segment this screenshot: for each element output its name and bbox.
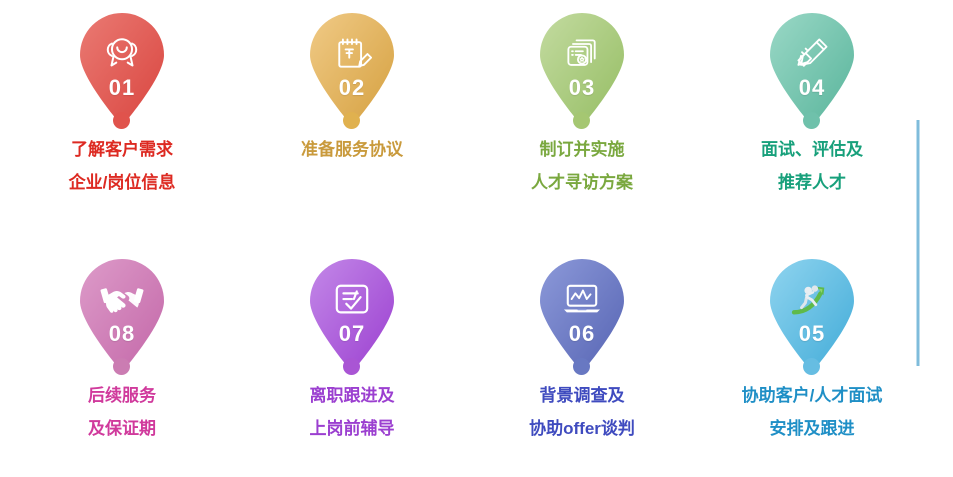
step-caption-04: 面试、评估及 推荐人才 — [692, 133, 932, 199]
caption-line-1: 了解客户需求 — [71, 140, 173, 159]
caption-line-1: 离职跟进及 — [310, 386, 395, 405]
caption-line-2: 推荐人才 — [692, 166, 932, 199]
handshake-icon — [76, 272, 168, 328]
step-number: 03 — [536, 76, 628, 100]
timeline-dot-02 — [343, 112, 360, 129]
infographic-canvas: 01 了解客户需求 企业/岗位信息 02 准备服务协议 — [0, 0, 953, 477]
step-caption-01: 了解客户需求 企业/岗位信息 — [2, 133, 242, 199]
caption-line-2: 安排及跟进 — [692, 412, 932, 445]
timeline-dot-07 — [343, 358, 360, 375]
timeline-dot-06 — [573, 358, 590, 375]
step-pin-07[interactable]: 07 — [306, 258, 398, 374]
step-number: 07 — [306, 322, 398, 346]
certificate-document-icon — [536, 26, 628, 82]
step-caption-06: 背景调查及 协助offer谈判 — [462, 379, 702, 445]
ribbon-award-icon — [76, 26, 168, 82]
growth-arrow-person-icon — [766, 272, 858, 328]
step-pin-02[interactable]: 02 — [306, 12, 398, 128]
step-number: 01 — [76, 76, 168, 100]
step-number: 02 — [306, 76, 398, 100]
step-pin-01[interactable]: 01 — [76, 12, 168, 128]
timeline-dot-05 — [803, 358, 820, 375]
caption-line-1: 背景调查及 — [540, 386, 625, 405]
step-pin-04[interactable]: 04 — [766, 12, 858, 128]
step-caption-08: 后续服务 及保证期 — [2, 379, 242, 445]
step-number: 08 — [76, 322, 168, 346]
checklist-icon — [306, 272, 398, 328]
timeline-dot-01 — [113, 112, 130, 129]
laptop-chart-icon — [536, 272, 628, 328]
caption-line-1: 后续服务 — [88, 386, 156, 405]
caption-line-1: 面试、评估及 — [761, 140, 863, 159]
step-pin-05[interactable]: 05 — [766, 258, 858, 374]
caption-line-2: 及保证期 — [2, 412, 242, 445]
timeline-dot-03 — [573, 112, 590, 129]
caption-line-1: 准备服务协议 — [301, 140, 403, 159]
step-pin-06[interactable]: 06 — [536, 258, 628, 374]
step-number: 05 — [766, 322, 858, 346]
caption-line-1: 制订并实施 — [540, 140, 625, 159]
step-caption-07: 离职跟进及 上岗前辅导 — [232, 379, 472, 445]
step-caption-03: 制订并实施 人才寻访方案 — [462, 133, 702, 199]
step-pin-08[interactable]: 08 — [76, 258, 168, 374]
pencil-ruler-icon — [766, 26, 858, 82]
caption-line-2: 协助offer谈判 — [462, 412, 702, 445]
caption-line-2: 企业/岗位信息 — [2, 166, 242, 199]
caption-line-1: 协助客户/人才面试 — [742, 386, 883, 405]
timeline-dot-08 — [113, 358, 130, 375]
step-caption-05: 协助客户/人才面试 安排及跟进 — [692, 379, 932, 445]
caption-line-2: 上岗前辅导 — [232, 412, 472, 445]
step-pin-03[interactable]: 03 — [536, 12, 628, 128]
timeline-dot-04 — [803, 112, 820, 129]
notepad-pencil-icon — [306, 26, 398, 82]
step-number: 06 — [536, 322, 628, 346]
caption-line-2: 人才寻访方案 — [462, 166, 702, 199]
step-number: 04 — [766, 76, 858, 100]
step-caption-02: 准备服务协议 — [232, 133, 472, 166]
